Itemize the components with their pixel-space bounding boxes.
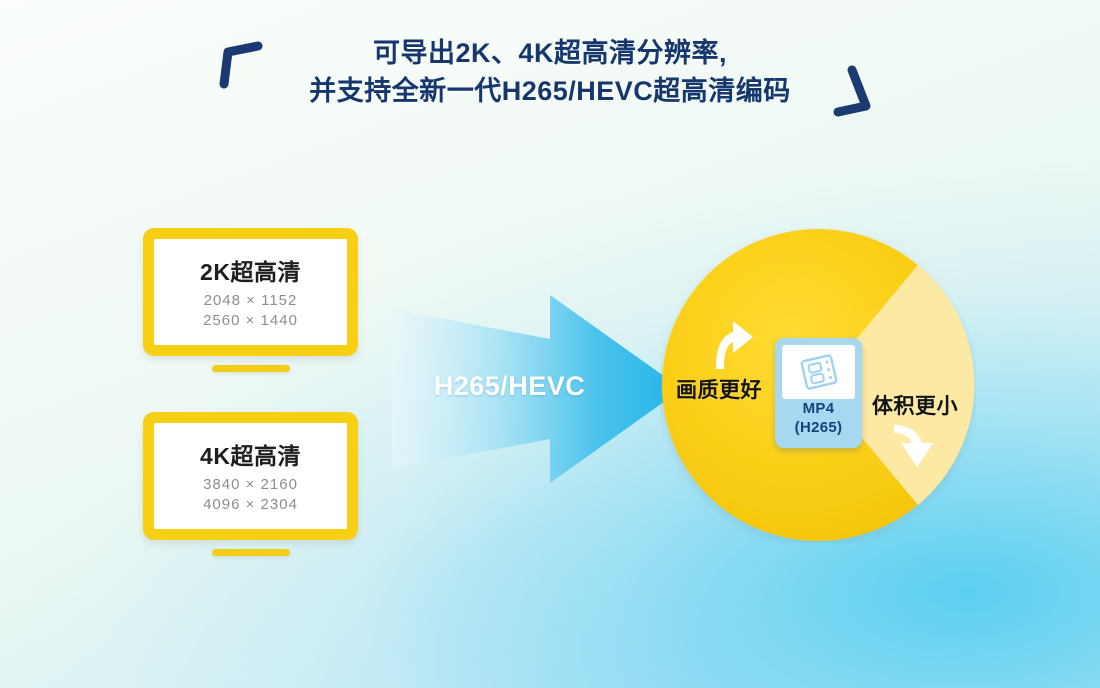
output-format-card: MP4 (H265) <box>775 338 862 448</box>
monitor-heading: 4K超高清 <box>200 437 301 471</box>
format-codec: (H265) <box>782 420 855 437</box>
monitor-frame: 2K超高清 2048 × 1152 2560 × 1440 <box>143 228 358 356</box>
arrow-curve-up-icon <box>710 319 756 371</box>
monitor-card-2k: 2K超高清 2048 × 1152 2560 × 1440 <box>143 228 358 372</box>
monitor-heading: 2K超高清 <box>200 253 301 287</box>
monitor-screen: 2K超高清 2048 × 1152 2560 × 1440 <box>154 239 347 345</box>
pie-label-better-quality: 画质更好 <box>676 374 762 404</box>
monitor-resolution-2: 4096 × 2304 <box>203 495 298 515</box>
conversion-arrow: H265/HEVC <box>392 295 682 483</box>
title-line-2: 并支持全新一代H265/HEVC超高清编码 <box>0 72 1100 110</box>
film-strip-icon <box>796 353 842 391</box>
monitor-resolution-1: 3840 × 2160 <box>203 475 298 495</box>
pie-label-smaller-size: 体积更小 <box>872 390 958 420</box>
monitor-stand <box>212 549 290 556</box>
monitor-stand <box>212 365 290 372</box>
arrow-curve-down-icon <box>892 423 938 475</box>
monitor-resolution-1: 2048 × 1152 <box>204 291 298 311</box>
monitor-card-4k: 4K超高清 3840 × 2160 4096 × 2304 <box>143 412 358 556</box>
monitor-resolution-2: 2560 × 1440 <box>203 311 298 331</box>
quote-close-icon <box>832 62 878 120</box>
format-name: MP4 <box>782 401 855 418</box>
monitor-screen: 4K超高清 3840 × 2160 4096 × 2304 <box>154 423 347 529</box>
infographic-canvas: 可导出2K、4K超高清分辨率, 并支持全新一代H265/HEVC超高清编码 2K… <box>0 0 1100 688</box>
video-thumbnail <box>782 345 855 399</box>
monitor-frame: 4K超高清 3840 × 2160 4096 × 2304 <box>143 412 358 540</box>
title-line-1: 可导出2K、4K超高清分辨率, <box>0 34 1100 72</box>
page-title: 可导出2K、4K超高清分辨率, 并支持全新一代H265/HEVC超高清编码 <box>0 34 1100 111</box>
